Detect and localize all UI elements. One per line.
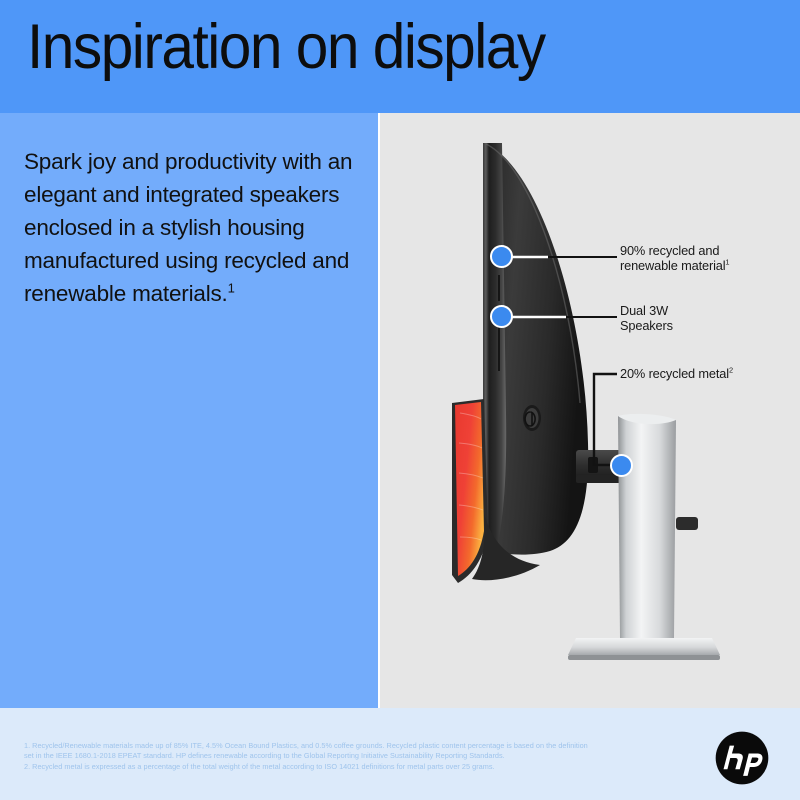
callout-dot-recycled-metal[interactable] (610, 454, 633, 477)
callout-label-recycled-metal: 20% recycled metal2 (620, 366, 733, 381)
callout-1-text: 90% recycled and renewable material (620, 243, 725, 273)
monitor-illustration (380, 113, 800, 708)
callout-3-footnote-marker: 2 (729, 366, 733, 375)
monitor-rear-emblem (523, 405, 541, 431)
monitor-stand-base (568, 638, 720, 660)
top-banner: Inspiration on display (0, 0, 800, 113)
callout-dot-recycled-renewable[interactable] (490, 245, 513, 268)
footnote-line-3: 2. Recycled metal is expressed as a perc… (24, 762, 674, 772)
body-text-content: Spark joy and productivity with an elega… (24, 149, 352, 306)
marketing-body-text: Spark joy and productivity with an elega… (24, 145, 354, 310)
product-image-panel: 90% recycled and renewable material1 Dua… (380, 113, 800, 708)
body-text-footnote-marker: 1 (228, 281, 235, 296)
hp-logo (714, 730, 770, 786)
callout-2-text: Dual 3W Speakers (620, 303, 673, 333)
footnote-line-1: 1. Recycled/Renewable materials made up … (24, 741, 674, 751)
footnotes-block: 1. Recycled/Renewable materials made up … (24, 741, 674, 772)
callout-1-footnote-marker: 1 (725, 258, 729, 267)
footer-bar: 1. Recycled/Renewable materials made up … (0, 708, 800, 800)
footnote-line-2: set in the IEEE 1680.1-2018 EPEAT standa… (24, 751, 674, 761)
left-copy-panel: Spark joy and productivity with an elega… (0, 113, 378, 708)
callout-dot-speakers[interactable] (490, 305, 513, 328)
monitor-stand-pillar (618, 414, 676, 638)
cable-clip (676, 517, 698, 530)
callout-3-text: 20% recycled metal (620, 366, 729, 381)
callout-label-speakers: Dual 3W Speakers (620, 303, 673, 333)
marketing-infographic-page: Inspiration on display Spark joy and pro… (0, 0, 800, 800)
callout-label-recycled-renewable: 90% recycled and renewable material1 (620, 243, 729, 273)
page-title: Inspiration on display (27, 16, 545, 79)
